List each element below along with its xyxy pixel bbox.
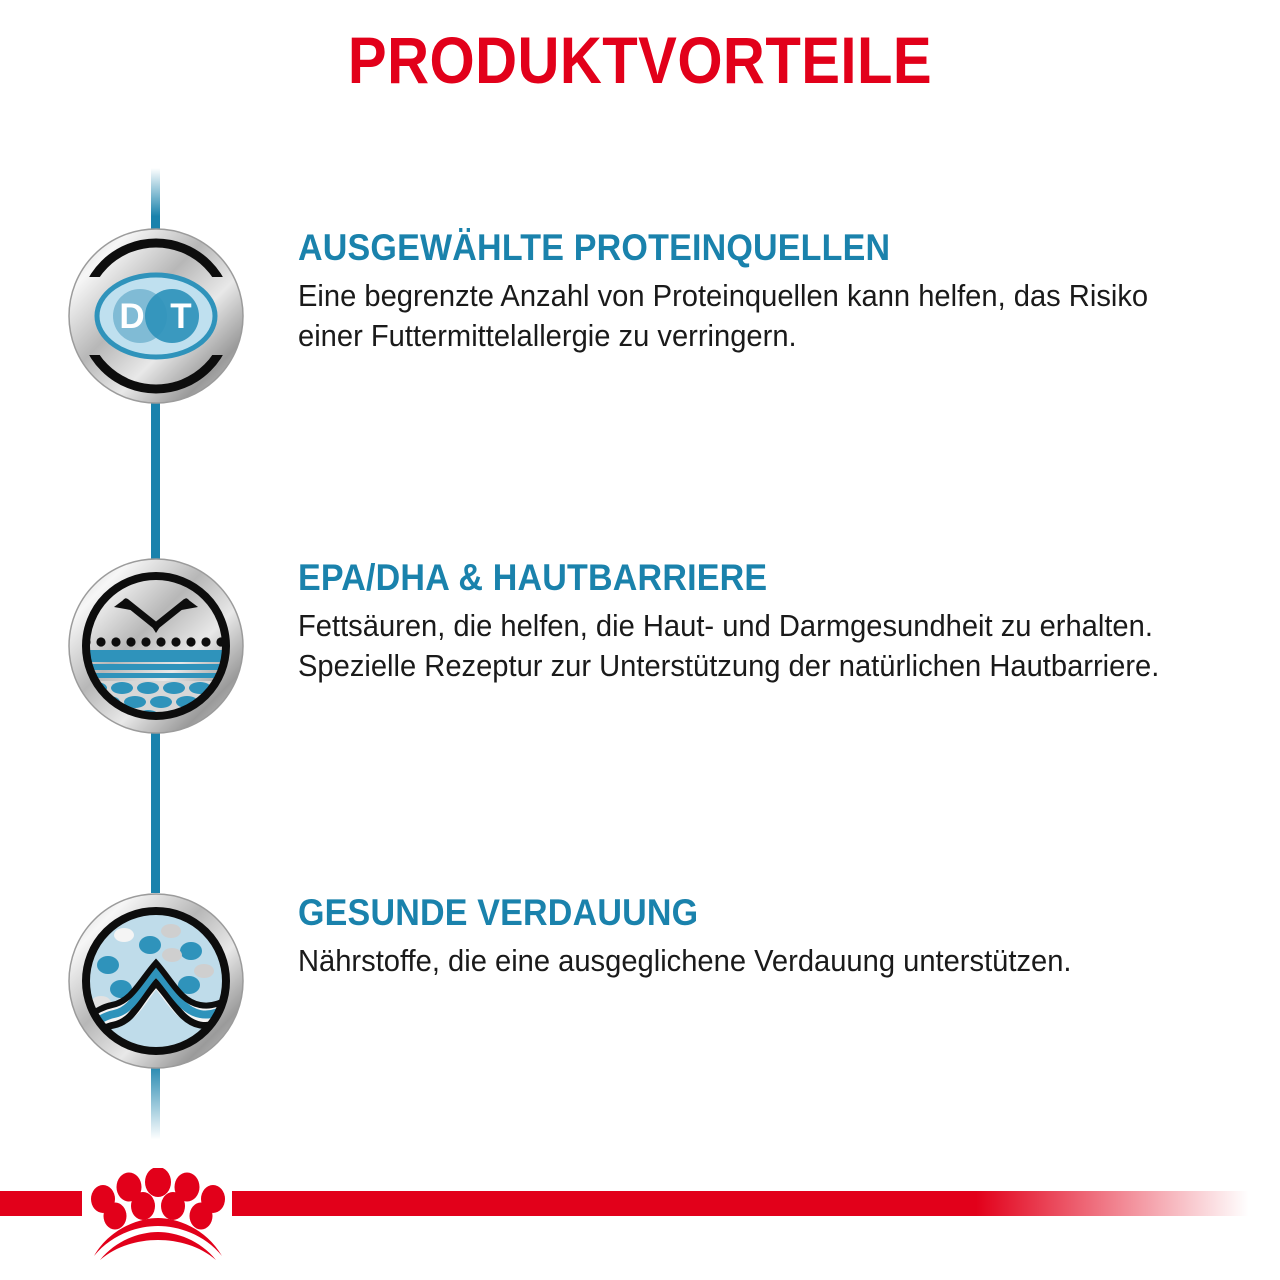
benefit-body: Nährstoffe, die eine ausgeglichene Verda… [298, 941, 1205, 981]
benefit-heading: AUSGEWÄHLTE PROTEINQUELLEN [298, 228, 1172, 268]
page-title: PRODUKTVORTEILE [77, 26, 1203, 95]
icon-letter-d: D [119, 297, 144, 336]
healthy-digestion-icon [68, 893, 244, 1069]
icon-letter-t: T [170, 297, 191, 336]
benefit-body: Eine begrenzte Anzahl von Proteinquellen… [298, 276, 1205, 357]
connector-line-bottom [151, 1062, 160, 1150]
royal-canin-crown-logo [84, 1168, 232, 1260]
connector-line-2 [151, 728, 160, 893]
skin-barrier-icon [68, 558, 244, 734]
benefit-text-block: GESUNDE VERDAUUNG Nährstoffe, die eine a… [298, 893, 1248, 981]
benefit-text-block: EPA/DHA & HAUTBARRIERE Fettsäuren, die h… [298, 558, 1248, 686]
benefit-heading: GESUNDE VERDAUUNG [298, 893, 1172, 933]
connector-line-1 [151, 398, 160, 563]
footer-bar-right [232, 1191, 1280, 1216]
selected-protein-sources-icon: D T [68, 228, 244, 404]
benefit-heading: EPA/DHA & HAUTBARRIERE [298, 558, 1172, 598]
footer-bar-left [0, 1191, 82, 1216]
benefit-text-block: AUSGEWÄHLTE PROTEINQUELLEN Eine begrenzt… [298, 228, 1248, 356]
benefit-body: Fettsäuren, die helfen, die Haut- und Da… [298, 606, 1205, 687]
